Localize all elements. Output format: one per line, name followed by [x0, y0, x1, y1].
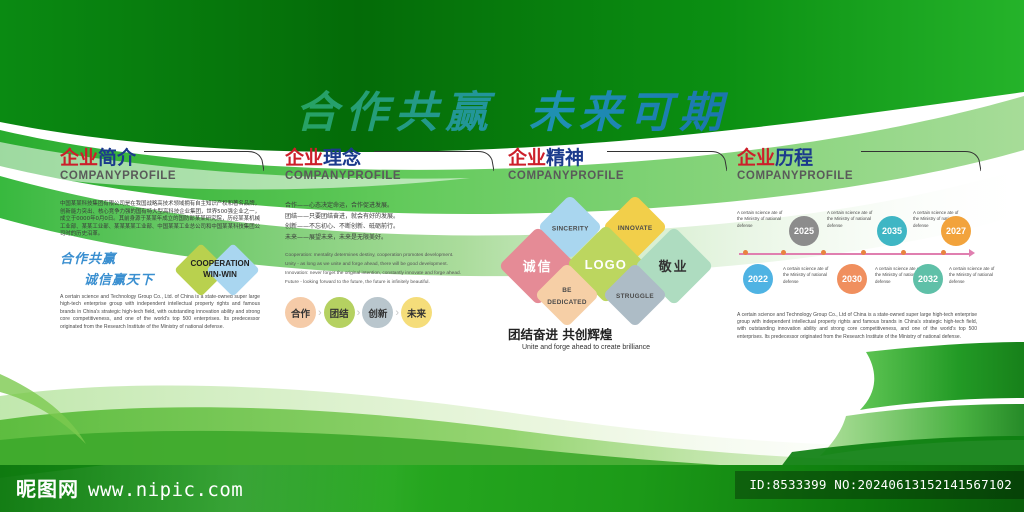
diamond-struggle-label: STRUGGLE	[616, 293, 654, 300]
site-footer: 昵图网 www.nipic.com ID:8533399 NO:20240613…	[0, 465, 1024, 512]
timeline-axis	[739, 253, 971, 255]
panel2-rule	[374, 150, 494, 172]
history-timeline: A certain science ate of the Ministry of…	[737, 200, 977, 308]
diamond-innovate-label: INNOVATE	[618, 225, 652, 232]
brand-name-cn: 昵图网	[16, 473, 79, 502]
flow-step-weilai: 未来	[401, 297, 432, 328]
panel2-cn-lines: 合作——心态决定命运，合作促进发展。 团结——只要团结奋进，就会有好的发展。 创…	[285, 201, 490, 243]
timeline-note: A certain science ate of the Ministry of…	[827, 210, 873, 229]
idea-en-line: Unity - as long as we unite and forge ah…	[285, 260, 490, 269]
timeline-year-2030: 2030	[837, 264, 867, 294]
panel3-header: 企业精神 COMPANYPROFILE	[508, 148, 723, 194]
spirit-slogan-cn: 团结奋进 共创辉煌	[508, 324, 723, 343]
diamond-sincerity-label: SINCERITY	[552, 225, 589, 232]
timeline-dot	[821, 250, 826, 255]
idea-en-line: Cooperation: mentality determines destin…	[285, 251, 490, 260]
poster-canvas: 合作共赢未来可期 企业简介 COMPANYPROFILE 中国某某科技集团有限公…	[0, 0, 1024, 512]
headline-right: 未来可期	[529, 88, 729, 138]
panel2-title-b: 理念	[323, 147, 361, 169]
timeline-year-2025: 2025	[789, 216, 819, 246]
diamond-chengxin-label: 诚信	[523, 261, 553, 270]
spirit-slogan-en: Unite and forge ahead to create brillian…	[522, 344, 723, 351]
idea-en-line: Innovation: never forget the original in…	[285, 269, 490, 278]
timeline-year-2027: 2027	[941, 216, 971, 246]
panel2-en-lines: Cooperation: mentality determines destin…	[285, 251, 490, 287]
timeline-dot	[781, 250, 786, 255]
flow-step-hezuo: 合作	[285, 297, 316, 328]
idea-en-line: Future - looking forward to the future, …	[285, 278, 490, 287]
panel4-title-a: 企业	[737, 147, 775, 169]
panel-company-spirit: 企业精神 COMPANYPROFILE SINCERITY INNOVATE 诚	[508, 148, 723, 351]
panel3-rule	[607, 150, 727, 172]
flow-step-tuanjie: 团结	[324, 297, 355, 328]
idea-line: 合作——心态决定命运，合作促进发展。	[285, 201, 490, 212]
panel1-title-a: 企业	[60, 147, 98, 169]
timeline-arrow-icon	[969, 249, 975, 257]
panel2-title-a: 企业	[285, 147, 323, 169]
flow-step-chuangxin: 创新	[362, 297, 393, 328]
idea-flow-chain: 合作 › 团结 › 创新 › 未来	[285, 297, 490, 328]
content-board: 企业简介 COMPANYPROFILE 中国某某科技集团有限公司是在我国战略高技…	[0, 148, 1024, 396]
panel1-calligraphy: 合作共赢 诚信赢天下 COOPERATION WIN-WIN	[60, 248, 260, 288]
diamond-jingye-label: 敬业	[659, 261, 689, 270]
timeline-note: A certain science ate of the Ministry of…	[949, 266, 995, 285]
timeline-year-2035: 2035	[877, 216, 907, 246]
panel1-cn-paragraph: 中国某某科技集团有限公司是在我国战略高技术领域拥有自主知识产权和著名品牌，创新能…	[60, 201, 260, 239]
idea-line: 未来——展望未来，未来是无限美好。	[285, 233, 490, 244]
site-brand[interactable]: 昵图网 www.nipic.com	[16, 473, 243, 502]
timeline-year-2022: 2022	[743, 264, 773, 294]
brand-url[interactable]: www.nipic.com	[88, 479, 243, 501]
timeline-dot	[861, 250, 866, 255]
timeline-note: A certain science ate of the Ministry of…	[783, 266, 829, 285]
panel3-title-a: 企业	[508, 147, 546, 169]
cooperation-badge: COOPERATION WIN-WIN	[158, 248, 278, 294]
diamond-dedicated-label: BE DEDICATED	[547, 287, 587, 306]
panel4-rule	[861, 150, 981, 172]
spirit-diamond-cluster: SINCERITY INNOVATE 诚信 LOGO 敬业 BE DEDICAT…	[512, 198, 712, 320]
panel-company-profile: 企业简介 COMPANYPROFILE 中国某某科技集团有限公司是在我国战略高技…	[60, 148, 260, 331]
flow-arrow-icon: ›	[357, 307, 361, 319]
panel1-title-b: 简介	[98, 147, 136, 169]
poster-headline: 合作共赢未来可期	[0, 78, 1024, 140]
badge-line-1: COOPERATION	[168, 258, 272, 269]
panel4-title-b: 历程	[775, 147, 813, 169]
panel-company-idea: 企业理念 COMPANYPROFILE 合作——心态决定命运，合作促进发展。 团…	[285, 148, 490, 328]
asset-id-box: ID:8533399 NO:20240613152141567102	[735, 471, 1024, 499]
timeline-dot	[941, 250, 946, 255]
idea-line: 团结——只要团结奋进，就会有好的发展。	[285, 212, 490, 223]
panel4-en-paragraph: A certain science and Technology Group C…	[737, 312, 977, 341]
flow-arrow-icon: ›	[318, 307, 322, 319]
timeline-dot	[743, 250, 748, 255]
badge-text: COOPERATION WIN-WIN	[168, 258, 272, 280]
panel2-header: 企业理念 COMPANYPROFILE	[285, 148, 490, 194]
flow-arrow-icon: ›	[395, 307, 399, 319]
timeline-note: A certain science ate of the Ministry of…	[737, 210, 783, 229]
diamond-logo-label: LOGO	[585, 260, 627, 269]
timeline-dot	[901, 250, 906, 255]
badge-line-2: WIN-WIN	[168, 269, 272, 280]
panel1-header: 企业简介 COMPANYPROFILE	[60, 148, 260, 194]
panel4-header: 企业历程 COMPANYPROFILE	[737, 148, 977, 194]
panel1-rule	[144, 150, 264, 172]
panel3-title-b: 精神	[546, 147, 584, 169]
asset-id-text: ID:8533399 NO:20240613152141567102	[749, 477, 1012, 492]
panel-company-history: 企业历程 COMPANYPROFILE A ce	[737, 148, 977, 341]
panel1-en-paragraph: A certain science and Technology Group C…	[60, 294, 260, 331]
headline-left: 合作共赢	[295, 88, 495, 138]
idea-line: 创新——不忘初心、不断创新、砥砺前行。	[285, 222, 490, 233]
timeline-year-2032: 2032	[913, 264, 943, 294]
